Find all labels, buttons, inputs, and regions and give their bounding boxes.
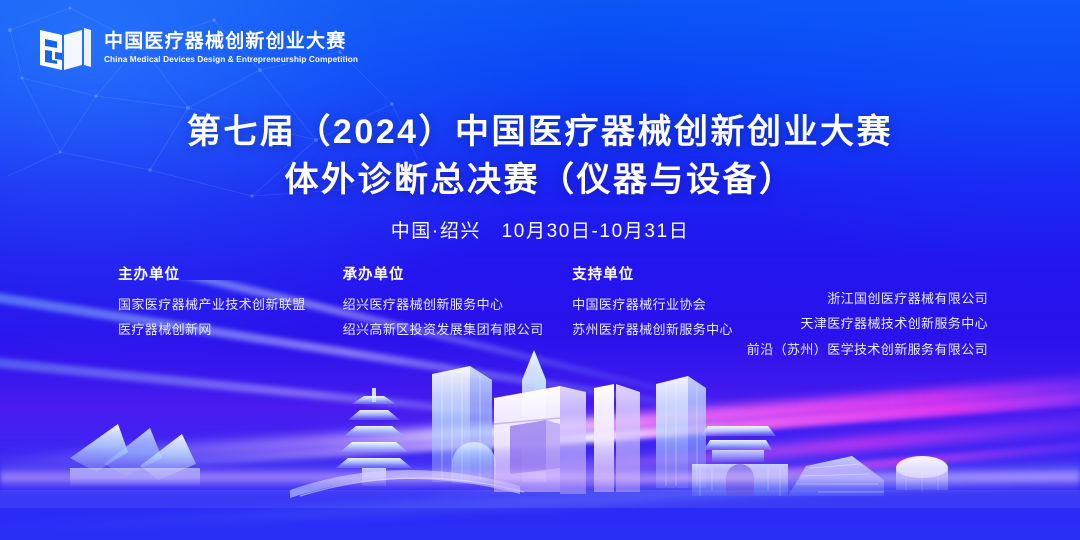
page-title: 第七届（2024）中国医疗器械创新创业大赛 体外诊断总决赛（仪器与设备） (0, 108, 1080, 205)
competition-logo: 中国医疗器械创新创业大赛 China Medical Devices Desig… (38, 22, 366, 74)
organizer-item: 国家医疗器械产业技术创新联盟 (118, 292, 343, 317)
organizer-item: 绍兴高新区投资发展集团有限公司 (343, 317, 573, 342)
organizer-heading: 支持单位 (572, 266, 747, 286)
organizer-column-co-host: 承办单位 绍兴医疗器械创新服务中心 绍兴高新区投资发展集团有限公司 (343, 266, 573, 342)
organizer-heading: 承办单位 (343, 266, 573, 286)
organizer-item: 苏州医疗器械创新服务中心 (572, 317, 747, 342)
organizer-item: 前沿（苏州）医学技术创新服务有限公司 (747, 337, 988, 362)
location-date-subtitle: 中国·绍兴 10月30日-10月31日 (0, 216, 1080, 243)
organizer-column-support-extra: 浙江国创医疗器械有限公司 天津医疗器械技术创新服务中心 前沿（苏州）医学技术创新… (747, 266, 988, 362)
organizer-item: 绍兴医疗器械创新服务中心 (343, 292, 573, 317)
organizers-section: 主办单位 国家医疗器械产业技术创新联盟 医疗器械创新网 承办单位 绍兴医疗器械创… (118, 266, 988, 362)
city-skyline-illustration (0, 340, 1080, 540)
open-book-door-emblem-icon (38, 22, 92, 74)
conference-banner: 中国医疗器械创新创业大赛 China Medical Devices Desig… (0, 0, 1080, 540)
title-line-2: 体外诊断总决赛（仪器与设备） (0, 156, 1080, 204)
organizer-item: 医疗器械创新网 (118, 317, 343, 342)
logo-english-name: China Medical Devices Design & Entrepren… (104, 54, 358, 65)
organizer-column-support: 支持单位 中国医疗器械行业协会 苏州医疗器械创新服务中心 (572, 266, 747, 342)
title-line-1: 第七届（2024）中国医疗器械创新创业大赛 (0, 108, 1080, 156)
organizer-item: 浙江国创医疗器械有限公司 (827, 286, 988, 311)
organizer-item: 天津医疗器械技术创新服务中心 (800, 311, 988, 336)
logo-chinese-name: 中国医疗器械创新创业大赛 (104, 31, 366, 53)
horizon-glow (0, 454, 1080, 494)
organizer-item: 中国医疗器械行业协会 (572, 292, 747, 317)
organizer-column-host: 主办单位 国家医疗器械产业技术创新联盟 医疗器械创新网 (118, 266, 343, 342)
organizer-heading: 主办单位 (118, 266, 343, 286)
